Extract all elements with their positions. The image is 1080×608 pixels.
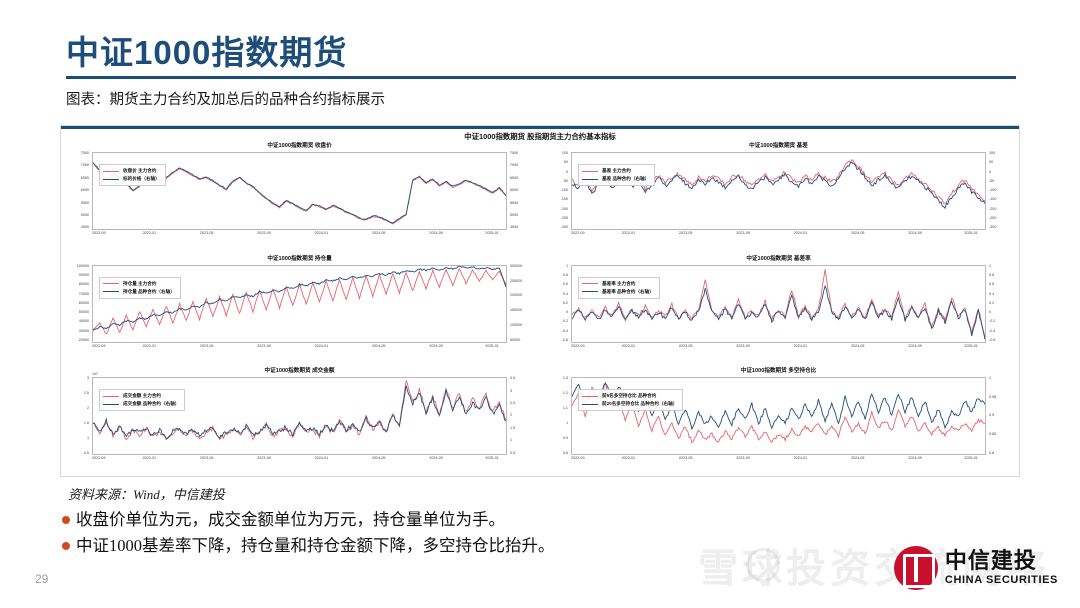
legend-label: 标的价格（右轴）	[123, 176, 160, 182]
y-tick-label: -50	[563, 180, 570, 184]
plot-area-basis: 100500-50-100-150-200-250-300100500-50-1…	[544, 152, 1013, 242]
x-tick-label: 2023-05	[200, 344, 214, 354]
y2-tick-label: 1	[987, 265, 991, 269]
x-tick-label: 2023-05	[679, 344, 693, 354]
y-tick-label: 7500	[81, 152, 91, 156]
y-tick-label: 5000	[81, 214, 91, 218]
legend-label: 基差率 品种合约（右轴）	[602, 289, 654, 295]
chart-title-basis: 中证1000指数期货 基差	[544, 142, 1013, 151]
legend-label: 基差率 主力合约	[602, 281, 635, 287]
x-tick-label: 2023-09	[736, 344, 750, 354]
y-tick-label: 0.8	[563, 274, 570, 278]
y2-tick-label: 0.2	[987, 302, 994, 306]
x-tick-label: 2023-01	[622, 344, 636, 354]
x-tick-label: 2024-09	[908, 456, 922, 466]
legend-item: 收盘价 主力合约	[103, 167, 160, 175]
y2-tick-label: 0.9	[987, 414, 994, 418]
y2-tick-label: 1	[987, 377, 991, 381]
list-item: 中证1000基差率下降，持仓量和持仓金额下降，多空持仓比抬升。	[62, 533, 555, 559]
y2-tick-label: 0.4	[987, 293, 994, 297]
y-axis-right-turnover: 3.532.521.510.5	[508, 377, 534, 455]
y2-tick-label: 6000	[508, 189, 518, 193]
slide: 中证1000指数期货 图表：期货主力合约及加总后的品种合约指标展示 中证1000…	[0, 0, 1080, 608]
x-tick-label: 2023-09	[257, 344, 271, 354]
legend-item: 标的价格（右轴）	[103, 175, 160, 183]
legend-swatch-icon	[103, 404, 119, 405]
legend-swatch-icon	[582, 291, 598, 292]
title-divider	[66, 76, 1016, 79]
x-tick-label: 2022-09	[571, 231, 585, 241]
plot-area-basis-rate: 10.80.60.40.20-0.2-0.4-0.610.80.60.40.20…	[544, 265, 1013, 355]
x-tick-label: 2023-09	[257, 456, 271, 466]
y-tick-label: 3	[87, 377, 91, 381]
y-tick-label: -300	[561, 226, 570, 230]
y-tick-label: 1.1	[563, 407, 570, 411]
page-number: 29	[35, 572, 48, 586]
x-tick-label: 2023-05	[200, 231, 214, 241]
bullet-dot-icon	[62, 516, 70, 524]
x-axis-turnover: 2022-092023-012023-052023-092024-012024-…	[92, 456, 507, 466]
bullet-text: 中证1000基差率下降，持仓量和持仓金额下降，多空持仓比抬升。	[76, 533, 555, 559]
y-tick-label: 50000	[79, 311, 91, 315]
x-tick-label: 2023-09	[736, 456, 750, 466]
y-axis-right-basis: 100500-50-100-150-200-250-300	[987, 152, 1013, 230]
y-axis-left-turnover: 32.521.510.5	[65, 377, 91, 455]
legend-item: 前5名多空持仓比 品种合约	[582, 392, 677, 400]
legend-swatch-icon	[582, 283, 598, 284]
y-tick-label: 1	[566, 422, 570, 426]
legend-item: 基差率 主力合约	[582, 280, 654, 288]
x-tick-label: 2023-05	[679, 231, 693, 241]
y2-tick-label: 50000	[508, 339, 520, 343]
legend-item: 持仓量 主力合约	[103, 280, 175, 288]
legend-swatch-icon	[582, 404, 598, 405]
legend-item: 基差 品种合约（右轴）	[582, 175, 649, 183]
company-logo: 中信建投 CHINA SECURITIES	[894, 546, 1058, 590]
y-tick-label: -100	[561, 189, 570, 193]
legend-basis: 基差 主力合约基差 品种合约（右轴）	[578, 164, 655, 186]
logo-name-cn: 中信建投	[945, 550, 1058, 572]
legend-swatch-icon	[582, 179, 598, 180]
legend-label: 成交金额 品种合约（右轴）	[123, 401, 179, 407]
x-tick-label: 2024-05	[372, 456, 386, 466]
y-tick-label: 0.6	[563, 283, 570, 287]
y2-tick-label: 100000	[508, 324, 522, 328]
legend-basis-rate: 基差率 主力合约基差率 品种合约（右轴）	[578, 277, 660, 299]
y2-tick-label: -50	[987, 180, 994, 184]
y-tick-label: 0	[566, 171, 570, 175]
legend-item: 成交金额 主力合约	[103, 392, 179, 400]
y-tick-label: 4500	[81, 226, 91, 230]
x-tick-label: 2024-01	[794, 456, 808, 466]
watermark-icon	[746, 548, 780, 582]
y-tick-label: 0.9	[563, 437, 570, 441]
x-tick-label: 2024-09	[908, 344, 922, 354]
x-tick-label: 2024-01	[315, 344, 329, 354]
y-tick-label: 6000	[81, 189, 91, 193]
x-axis-basis: 2022-092023-012023-052023-092024-012024-…	[571, 231, 986, 241]
y-tick-label: 90000	[79, 274, 91, 278]
y2-tick-label: 0.8	[987, 452, 994, 456]
plot-area-turnover: 1e732.521.510.53.532.521.510.52022-09202…	[65, 377, 534, 467]
y-tick-label: 70000	[79, 293, 91, 297]
y-tick-label: 60000	[79, 302, 91, 306]
x-tick-label: 2024-05	[372, 231, 386, 241]
chart-title-basis-rate: 中证1000指数期货 基差率	[544, 255, 1013, 264]
y2-tick-label: 5000	[508, 214, 518, 218]
board-top-divider	[61, 126, 1019, 129]
y2-tick-label: 1.5	[508, 427, 515, 431]
bullet-dot-icon	[62, 542, 70, 550]
x-tick-label: 2025-01	[964, 456, 978, 466]
y2-tick-label: 1	[508, 439, 512, 443]
y-tick-label: 1	[566, 265, 570, 269]
x-tick-label: 2024-01	[794, 344, 808, 354]
y2-tick-label: 0.8	[987, 274, 994, 278]
bullet-list: 收盘价单位为元，成交金额单位为万元，持仓量单位为手。 中证1000基差率下降，持…	[62, 507, 555, 559]
y-tick-label: 6500	[81, 177, 91, 181]
x-tick-label: 2022-09	[92, 456, 106, 466]
x-tick-label: 2024-01	[315, 456, 329, 466]
x-tick-label: 2024-01	[315, 231, 329, 241]
x-tick-label: 2022-09	[92, 231, 106, 241]
x-tick-label: 2022-09	[92, 344, 106, 354]
y2-tick-label: 0.5	[508, 452, 515, 456]
y-tick-label: 0.5	[84, 452, 91, 456]
plot-area-long-short-ratio: 1.31.21.110.90.810.950.90.850.82022-0920…	[544, 377, 1013, 467]
y-tick-label: 2	[87, 407, 91, 411]
y-tick-label: 0.4	[563, 293, 570, 297]
x-tick-label: 2023-05	[200, 456, 214, 466]
legend-swatch-icon	[103, 283, 119, 284]
bullet-text: 收盘价单位为元，成交金额单位为万元，持仓量单位为手。	[76, 507, 505, 533]
y-axis-right-long-short-ratio: 10.950.90.850.8	[987, 377, 1013, 455]
y2-tick-label: 3.5	[508, 377, 515, 381]
y2-tick-label: -200	[987, 208, 996, 212]
legend-swatch-icon	[582, 396, 598, 397]
legend-item: 基差率 品种合约（右轴）	[582, 288, 654, 296]
legend-swatch-icon	[582, 171, 598, 172]
x-tick-label: 2024-09	[429, 456, 443, 466]
x-tick-label: 2024-05	[851, 344, 865, 354]
x-axis-basis-rate: 2022-092023-012023-052023-092024-012024-…	[571, 344, 986, 354]
legend-item: 成交金额 品种合约（右轴）	[103, 400, 179, 408]
x-tick-label: 2024-09	[429, 344, 443, 354]
y-axis-left-basis: 100500-50-100-150-200-250-300	[544, 152, 570, 230]
chart-cell-basis-rate: 中证1000指数期货 基差率10.80.60.40.20-0.2-0.4-0.6…	[540, 253, 1019, 366]
y2-tick-label: 0.85	[987, 433, 996, 437]
y-tick-label: -250	[561, 217, 570, 221]
legend-open-interest: 持仓量 主力合约持仓量 品种合约（右轴）	[99, 277, 181, 299]
chart-title-close-price: 中证1000指数期货 收盘价	[65, 142, 534, 151]
x-tick-label: 2024-05	[372, 344, 386, 354]
legend-label: 前20名多空持仓比 品种合约（右轴）	[602, 401, 677, 407]
y2-tick-label: -250	[987, 217, 996, 221]
page-title: 中证1000指数期货	[66, 26, 347, 74]
x-tick-label: 2025-01	[964, 231, 978, 241]
axis-scale-note: 1e7	[92, 372, 98, 376]
x-tick-label: 2023-09	[257, 231, 271, 241]
x-tick-label: 2025-01	[485, 456, 499, 466]
x-tick-label: 2024-09	[908, 231, 922, 241]
y2-tick-label: 6500	[508, 177, 518, 181]
y-tick-label: 100000	[77, 265, 91, 269]
chart-cell-turnover: 中证1000指数期货 成交金额1e732.521.510.53.532.521.…	[61, 365, 540, 478]
logo-emblem-icon	[894, 546, 938, 590]
chart-cell-basis: 中证1000指数期货 基差100500-50-100-150-200-250-3…	[540, 140, 1019, 253]
y2-tick-label: 4500	[508, 226, 518, 230]
y-tick-label: 1.3	[563, 377, 570, 381]
y2-tick-label: 300000	[508, 265, 522, 269]
y2-tick-label: 50	[987, 161, 993, 165]
x-tick-label: 2023-01	[143, 456, 157, 466]
y2-tick-label: 2.5	[508, 402, 515, 406]
y-tick-label: 100	[562, 152, 570, 156]
x-tick-label: 2024-05	[851, 456, 865, 466]
y2-tick-label: 200000	[508, 294, 522, 298]
x-tick-label: 2024-01	[794, 231, 808, 241]
legend-label: 成交金额 主力合约	[123, 393, 161, 399]
y-tick-label: 30000	[79, 330, 91, 334]
y-tick-label: 1	[87, 437, 91, 441]
y-tick-label: -0.2	[562, 320, 570, 324]
y-tick-label: 20000	[79, 339, 91, 343]
y-tick-label: 1.5	[84, 422, 91, 426]
y-tick-label: 0	[566, 311, 570, 315]
y-tick-label: -0.4	[562, 330, 570, 334]
y2-tick-label: 150000	[508, 309, 522, 313]
y-tick-label: -200	[561, 208, 570, 212]
y-tick-label: 0.2	[563, 302, 570, 306]
logo-text: 中信建投 CHINA SECURITIES	[945, 550, 1058, 586]
figure-caption: 图表：期货主力合约及加总后的品种合约指标展示	[66, 88, 385, 109]
chart-title-turnover: 中证1000指数期货 成交金额	[65, 367, 534, 376]
y-axis-left-basis-rate: 10.80.60.40.20-0.2-0.4-0.6	[544, 265, 570, 343]
chart-cell-close-price: 中证1000指数期货 收盘价75007000650060005500500045…	[61, 140, 540, 253]
y-axis-left-close-price: 7500700065006000550050004500	[65, 152, 91, 230]
y2-tick-label: 7000	[508, 164, 518, 168]
legend-label: 基差 主力合约	[602, 168, 631, 174]
y-tick-label: 2.5	[84, 392, 91, 396]
legend-swatch-icon	[103, 396, 119, 397]
chart-grid: 中证1000指数期货 收盘价75007000650060005500500045…	[61, 140, 1019, 478]
legend-label: 持仓量 主力合约	[123, 281, 156, 287]
y2-tick-label: 0	[987, 171, 991, 175]
chart-cell-long-short-ratio: 中证1000指数期货 多空持仓比1.31.21.110.90.810.950.9…	[540, 365, 1019, 478]
chart-title-long-short-ratio: 中证1000指数期货 多空持仓比	[544, 367, 1013, 376]
x-tick-label: 2023-01	[622, 231, 636, 241]
legend-swatch-icon	[103, 291, 119, 292]
x-tick-label: 2025-01	[485, 231, 499, 241]
x-axis-long-short-ratio: 2022-092023-012023-052023-092024-012024-…	[571, 456, 986, 466]
y2-tick-label: -300	[987, 226, 996, 230]
logo-name-en: CHINA SECURITIES	[945, 575, 1058, 586]
legend-label: 前5名多空持仓比 品种合约	[602, 393, 656, 399]
y-axis-right-open-interest: 30000025000020000015000010000050000	[508, 265, 534, 343]
chart-title-open-interest: 中证1000指数期货 持仓量	[65, 255, 534, 264]
legend-swatch-icon	[103, 179, 119, 180]
x-tick-label: 2023-01	[622, 456, 636, 466]
y-tick-label: 0.8	[563, 452, 570, 456]
x-tick-label: 2023-09	[736, 231, 750, 241]
list-item: 收盘价单位为元，成交金额单位为万元，持仓量单位为手。	[62, 507, 555, 533]
y2-tick-label: 0	[987, 311, 991, 315]
legend-swatch-icon	[103, 171, 119, 172]
y-axis-right-basis-rate: 10.80.60.40.20-0.2-0.4-0.6	[987, 265, 1013, 343]
x-tick-label: 2023-05	[679, 456, 693, 466]
legend-close-price: 收盘价 主力合约标的价格（右轴）	[99, 164, 166, 186]
y2-tick-label: 250000	[508, 280, 522, 284]
y2-tick-label: -0.6	[987, 339, 995, 343]
x-axis-close-price: 2022-092023-012023-052023-092024-012024-…	[92, 231, 507, 241]
y2-tick-label: -0.4	[987, 330, 995, 334]
y2-tick-label: -0.2	[987, 320, 995, 324]
legend-label: 持仓量 品种合约（右轴）	[123, 289, 175, 295]
x-tick-label: 2024-05	[851, 231, 865, 241]
y-tick-label: 40000	[79, 320, 91, 324]
y2-tick-label: 2	[508, 414, 512, 418]
legend-turnover: 成交金额 主力合约成交金额 品种合约（右轴）	[99, 389, 185, 411]
legend-long-short-ratio: 前5名多空持仓比 品种合约前20名多空持仓比 品种合约（右轴）	[578, 389, 683, 411]
y2-tick-label: 0.95	[987, 396, 996, 400]
y-axis-left-open-interest: 1000009000080000700006000050000400003000…	[65, 265, 91, 343]
legend-item: 前20名多空持仓比 品种合约（右轴）	[582, 400, 677, 408]
source-note: 资料来源：Wind，中信建投	[68, 484, 225, 503]
y-tick-label: 7000	[81, 164, 91, 168]
plot-area-close-price: 7500700065006000550050004500750070006500…	[65, 152, 534, 242]
y-tick-label: -0.6	[562, 339, 570, 343]
plot-area-open-interest: 1000009000080000700006000050000400003000…	[65, 265, 534, 355]
y-tick-label: 80000	[79, 283, 91, 287]
y2-tick-label: 7500	[508, 152, 518, 156]
x-axis-open-interest: 2022-092023-012023-052023-092024-012024-…	[92, 344, 507, 354]
y-axis-left-long-short-ratio: 1.31.21.110.90.8	[544, 377, 570, 455]
y2-tick-label: -100	[987, 189, 996, 193]
y-tick-label: 1.2	[563, 392, 570, 396]
legend-label: 收盘价 主力合约	[123, 168, 156, 174]
x-tick-label: 2023-01	[143, 231, 157, 241]
x-tick-label: 2024-09	[429, 231, 443, 241]
x-tick-label: 2022-09	[571, 344, 585, 354]
y2-tick-label: 3	[508, 390, 512, 394]
legend-label: 基差 品种合约（右轴）	[602, 176, 649, 182]
y-tick-label: 50	[564, 161, 570, 165]
legend-item: 基差 主力合约	[582, 167, 649, 175]
x-tick-label: 2023-01	[143, 344, 157, 354]
x-tick-label: 2025-01	[485, 344, 499, 354]
y2-tick-label: 0.6	[987, 283, 994, 287]
x-tick-label: 2025-01	[964, 344, 978, 354]
y2-tick-label: 100	[987, 152, 995, 156]
y-tick-label: 5500	[81, 202, 91, 206]
legend-item: 持仓量 品种合约（右轴）	[103, 288, 175, 296]
y2-tick-label: -150	[987, 198, 996, 202]
y2-tick-label: 5500	[508, 202, 518, 206]
chart-cell-open-interest: 中证1000指数期货 持仓量10000090000800007000060000…	[61, 253, 540, 366]
chart-board: 中证1000指数期货 股指期货主力合约基本指标 中证1000指数期货 收盘价75…	[60, 125, 1020, 477]
y-tick-label: -150	[561, 198, 570, 202]
y-axis-right-close-price: 7500700065006000550050004500	[508, 152, 534, 230]
x-tick-label: 2022-09	[571, 456, 585, 466]
